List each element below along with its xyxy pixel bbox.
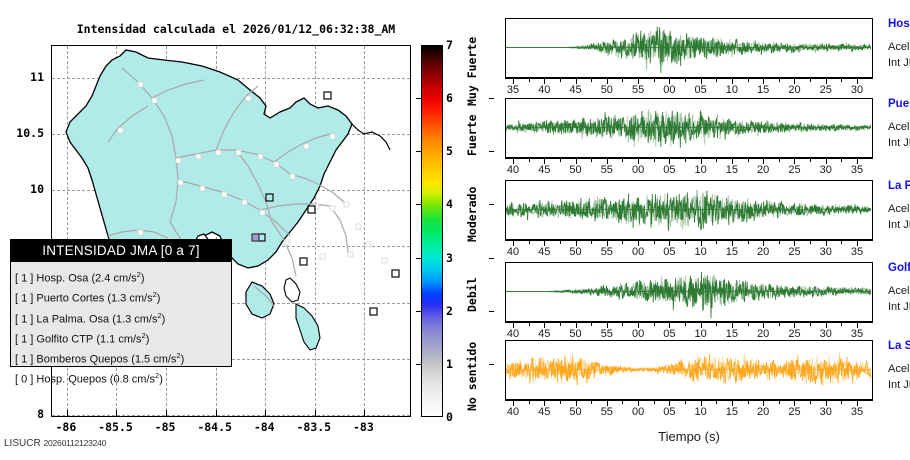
map-xtick-label: -86	[38, 420, 94, 434]
map-xtick-mark	[265, 410, 266, 417]
axis-tick-label: 15	[748, 84, 778, 96]
colorbar-tick-mark	[416, 98, 421, 99]
axis-minor-tick-mark	[779, 158, 780, 162]
map-gridline-horizontal	[52, 415, 410, 416]
station-jma-intensity: Int JMA: 1	[888, 219, 910, 231]
colorbar-category-label: Moderado	[465, 187, 479, 242]
colorbar-tick-label: 4	[446, 197, 453, 211]
axis-tick-label: 05	[654, 406, 684, 418]
axis-tick-label: 20	[748, 164, 778, 176]
axis-tick-label: 55	[623, 84, 653, 96]
axis-minor-tick-mark	[591, 158, 592, 162]
axis-minor-tick-mark	[591, 78, 592, 82]
colorbar-category-label: Debil	[465, 277, 479, 312]
station-jma-intensity: Int JMA: 1	[888, 301, 910, 313]
seismogram-trace-box[interactable]	[505, 18, 873, 78]
axis-tick-label: 25	[779, 164, 809, 176]
seismogram-station-info: Puerto CortesAcel. Max. 0.7Int JMA: 1	[888, 98, 910, 149]
station-name[interactable]: Puerto Cortes	[888, 98, 910, 110]
axis-tick-label: 45	[529, 406, 559, 418]
axis-minor-tick-mark	[716, 322, 717, 326]
axis-tick-label: 50	[561, 406, 591, 418]
axis-minor-tick-mark	[622, 322, 623, 326]
axis-tick-label: 10	[686, 164, 716, 176]
seismogram-waveform	[506, 19, 871, 76]
colorbar-tick-label: 3	[446, 251, 453, 265]
legend-intensity: [ 1 ]	[15, 273, 33, 285]
axis-minor-tick-mark	[591, 322, 592, 326]
axis-tick-label: 40	[498, 246, 528, 258]
seismogram-trace-box[interactable]	[505, 180, 873, 240]
station-max-accel: Acel. Max. 0.7	[888, 285, 910, 297]
legend-accel: (1.3 cm/s	[112, 313, 157, 325]
axis-tick-label: 20	[748, 246, 778, 258]
colorbar-category-label: No sentido	[465, 342, 479, 411]
intensity-legend: INTENSIDAD JMA [0 a 7] [ 1 ] Hosp. Osa (…	[10, 239, 232, 367]
legend-paren: )	[141, 273, 145, 285]
map-xtick-mark	[364, 410, 365, 417]
station-jma-intensity: Int JMA: 1	[888, 57, 910, 69]
page-title: Intensidad calculada el 2026/01/12_06:32…	[66, 22, 406, 36]
axis-tick-label: 45	[529, 246, 559, 258]
water-golfo-dulce	[284, 278, 300, 302]
map-xtick-mark	[67, 410, 68, 417]
axis-minor-tick-mark	[810, 400, 811, 404]
colorbar-tick-mark	[416, 364, 421, 365]
seismogram-trace-box[interactable]	[505, 340, 873, 400]
axis-minor-tick-mark	[560, 158, 561, 162]
axis-minor-tick-mark	[810, 158, 811, 162]
axis-minor-tick-mark	[779, 78, 780, 82]
axis-tick-label: 25	[779, 328, 809, 340]
axis-minor-tick-mark	[716, 78, 717, 82]
axis-tick-label: 30	[811, 246, 841, 258]
legend-intensity: [ 1 ]	[15, 333, 33, 345]
coastline-caribbean	[352, 124, 390, 150]
axis-minor-tick-mark	[841, 322, 842, 326]
map-ytick-label: 10	[4, 182, 44, 196]
seismogram-station-info: Golfito CTPAcel. Max. 0.7Int JMA: 1	[888, 262, 910, 313]
legend-accel: (1.3 cm/s	[107, 293, 152, 305]
axis-minor-tick-mark	[841, 158, 842, 162]
colorbar-tick-label: 1	[446, 357, 453, 371]
axis-minor-tick-mark	[529, 400, 530, 404]
seismogram-time-axis: 404550550005101520253035	[505, 158, 873, 178]
station-jma-intensity: Int JMA: 0	[888, 379, 910, 391]
axis-minor-tick-mark	[622, 158, 623, 162]
map-ytick-mark	[51, 415, 52, 416]
axis-tick-label: 35	[842, 406, 872, 418]
axis-minor-tick-mark	[560, 322, 561, 326]
axis-tick-label: 15	[717, 246, 747, 258]
legend-paren: )	[181, 354, 185, 366]
axis-minor-tick-mark	[748, 78, 749, 82]
map-ytick-mark	[51, 134, 52, 135]
legend-row: [ 1 ] La Palma. Osa (1.3 cm/s2)	[15, 308, 231, 328]
legend-title: INTENSIDAD JMA [0 a 7]	[11, 240, 231, 262]
map-xtick-mark	[116, 410, 117, 417]
axis-minor-tick-mark	[841, 240, 842, 244]
axis-tick-label: 30	[842, 84, 872, 96]
axis-minor-tick-mark	[841, 400, 842, 404]
axis-tick-label: 35	[498, 84, 528, 96]
axis-tick-label: 10	[686, 406, 716, 418]
legend-row: [ 0 ] Hosp. Quepos (0.8 cm/s2)	[15, 368, 231, 388]
axis-minor-tick-mark	[654, 322, 655, 326]
axis-tick-label: 45	[561, 84, 591, 96]
map-xtick-label: -83.5	[286, 420, 342, 434]
footer-lab: LISUCR	[4, 438, 41, 449]
seismogram-waveform	[506, 263, 871, 320]
colorbar-tick-label: 6	[446, 91, 453, 105]
axis-tick-label: 00	[623, 406, 653, 418]
station-name[interactable]: Hosp. Osa	[888, 18, 910, 30]
axis-minor-tick-mark	[779, 322, 780, 326]
map-ytick-mark	[51, 190, 52, 191]
colorbar-tick-label: 7	[446, 38, 453, 52]
legend-station: Hosp. Osa	[36, 273, 88, 285]
map-xtick-label: -84	[236, 420, 292, 434]
legend-row: [ 1 ] Hosp. Osa (2.4 cm/s2)	[15, 267, 231, 287]
axis-minor-tick-mark	[810, 78, 811, 82]
station-max-accel: Acel. Max. 0.7	[888, 121, 910, 133]
axis-tick-label: 35	[842, 246, 872, 258]
axis-minor-tick-mark	[622, 240, 623, 244]
legend-intensity: [ 1 ]	[15, 313, 33, 325]
axis-minor-tick-mark	[654, 240, 655, 244]
seismogram-trace-secondary	[506, 29, 871, 71]
legend-intensity: [ 1 ]	[15, 354, 33, 366]
axis-minor-tick-mark	[591, 400, 592, 404]
seismogram-waveform	[506, 99, 871, 156]
axis-tick-label: 25	[779, 406, 809, 418]
axis-tick-label: 20	[779, 84, 809, 96]
axis-tick-label: 00	[654, 84, 684, 96]
colorbar-tick-label: 2	[446, 304, 453, 318]
map-xtick-label: -85	[137, 420, 193, 434]
axis-tick-label: 10	[686, 246, 716, 258]
axis-tick-label: 05	[654, 328, 684, 340]
map-panel: Intensidad calculada el 2026/01/12_06:32…	[0, 0, 492, 460]
axis-minor-tick-mark	[748, 240, 749, 244]
axis-tick-label: 15	[717, 406, 747, 418]
axis-minor-tick-mark	[560, 400, 561, 404]
landmass-southern-tail	[296, 304, 320, 350]
axis-minor-tick-mark	[748, 158, 749, 162]
axis-minor-tick-mark	[560, 240, 561, 244]
legend-row: [ 1 ] Bomberos Quepos (1.5 cm/s2)	[15, 348, 231, 368]
axis-minor-tick-mark	[685, 400, 686, 404]
axis-minor-tick-mark	[716, 400, 717, 404]
map-ytick-label: 11	[4, 70, 44, 84]
axis-minor-tick-mark	[529, 78, 530, 82]
map-xtick-mark	[216, 410, 217, 417]
axis-tick-label: 35	[842, 164, 872, 176]
axis-minor-tick-mark	[529, 158, 530, 162]
axis-minor-tick-mark	[654, 400, 655, 404]
footer-code: 20260112123240	[43, 438, 106, 448]
axis-tick-label: 20	[748, 328, 778, 340]
station-name[interactable]: La Palma, Osa	[888, 180, 910, 192]
footer: LISUCR 20260112123240	[4, 438, 106, 449]
seismogram-waveform	[506, 181, 871, 238]
axis-tick-label: 45	[529, 328, 559, 340]
axis-tick-label: 30	[811, 328, 841, 340]
colorbar-category-label: Muy Fuerte	[465, 36, 479, 105]
axis-tick-label: 25	[811, 84, 841, 96]
map-xtick-label: -83	[335, 420, 391, 434]
legend-accel: (1.1 cm/s	[96, 333, 141, 345]
axis-minor-tick-mark	[560, 78, 561, 82]
colorbar-tick-label: 0	[446, 410, 453, 424]
seismogram-trace-box[interactable]	[505, 262, 873, 322]
colorbar-tick-label: 5	[446, 144, 453, 158]
station-max-accel: Acel. Max. 0.7	[888, 203, 910, 215]
axis-minor-tick-mark	[529, 322, 530, 326]
legend-station: Puerto Cortes	[36, 293, 104, 305]
axis-tick-label: 55	[592, 164, 622, 176]
legend-accel: (0.8 cm/s	[110, 374, 155, 386]
legend-accel: (1.5 cm/s	[131, 354, 176, 366]
legend-paren: )	[162, 313, 166, 325]
axis-tick-label: 20	[748, 406, 778, 418]
seismogram-station-info: La Palma, OsaAcel. Max. 0.7Int JMA: 1	[888, 180, 910, 231]
seismogram-waveform	[506, 341, 871, 398]
axis-tick-label: 05	[686, 84, 716, 96]
map-xtick-mark	[166, 410, 167, 417]
axis-tick-label: 05	[654, 246, 684, 258]
colorbar-tick-mark	[416, 151, 421, 152]
station-max-accel: Acel. Max. 0.0	[888, 363, 910, 375]
colorbar-gradient	[421, 45, 443, 417]
axis-minor-tick-mark	[591, 240, 592, 244]
axis-tick-label: 50	[561, 246, 591, 258]
axis-minor-tick-mark	[841, 78, 842, 82]
seismogram-station-info: La SabanaAcel. Max. 0.0Int JMA: 0	[888, 340, 910, 391]
axis-minor-tick-mark	[529, 240, 530, 244]
seismogram-time-axis: 354045505500051015202530	[505, 78, 873, 98]
legend-paren: )	[146, 333, 150, 345]
legend-station: Hosp. Quepos	[36, 374, 106, 386]
map-xtick-label: -84.5	[187, 420, 243, 434]
seismogram-trace-box[interactable]	[505, 98, 873, 158]
legend-station: Golfito CTP	[36, 333, 93, 345]
axis-minor-tick-mark	[748, 400, 749, 404]
map-ytick-label: 10.5	[4, 126, 44, 140]
legend-station: La Palma. Osa	[36, 313, 109, 325]
axis-tick-label: 40	[498, 164, 528, 176]
legend-station: Bomberos Quepos	[36, 354, 128, 366]
seismogram-panel: 354045505500051015202530Hosp. OsaAcel. M…	[492, 0, 910, 460]
axis-tick-label: 40	[498, 406, 528, 418]
axis-minor-tick-mark	[810, 240, 811, 244]
legend-row: [ 1 ] Golfito CTP (1.1 cm/s2)	[15, 328, 231, 348]
axis-tick-label: 55	[592, 406, 622, 418]
axis-minor-tick-mark	[654, 78, 655, 82]
legend-rows: [ 1 ] Hosp. Osa (2.4 cm/s2)[ 1 ] Puerto …	[11, 262, 231, 389]
axis-tick-label: 10	[717, 84, 747, 96]
colorbar-category-label: Fuerte	[465, 114, 479, 156]
legend-intensity: [ 1 ]	[15, 293, 33, 305]
axis-tick-label: 35	[842, 328, 872, 340]
seismogram-time-axis: 404550550005101520253035	[505, 322, 873, 342]
epicenter-marker	[252, 234, 259, 241]
legend-row: [ 1 ] Puerto Cortes (1.3 cm/s2)	[15, 287, 231, 307]
axis-tick-label: 50	[592, 84, 622, 96]
axis-minor-tick-mark	[622, 78, 623, 82]
station-name[interactable]: La Sabana	[888, 340, 910, 352]
station-name[interactable]: Golfito CTP	[888, 262, 910, 274]
station-jma-intensity: Int JMA: 1	[888, 137, 910, 149]
axis-minor-tick-mark	[685, 158, 686, 162]
axis-tick-label: 55	[592, 328, 622, 340]
colorbar-tick-mark	[416, 311, 421, 312]
seismogram-trace-primary	[506, 110, 871, 147]
axis-minor-tick-mark	[685, 322, 686, 326]
axis-tick-label: 30	[811, 164, 841, 176]
axis-minor-tick-mark	[810, 322, 811, 326]
seismogram-station-info: Hosp. OsaAcel. Max. 0.7Int JMA: 1	[888, 18, 910, 69]
axis-tick-label: 05	[654, 164, 684, 176]
axis-minor-tick-mark	[685, 240, 686, 244]
axis-minor-tick-mark	[748, 322, 749, 326]
axis-minor-tick-mark	[654, 158, 655, 162]
axis-minor-tick-mark	[779, 240, 780, 244]
legend-intensity: [ 0 ]	[15, 374, 33, 386]
axis-tick-label: 00	[623, 246, 653, 258]
axis-tick-label: 30	[811, 406, 841, 418]
axis-minor-tick-mark	[716, 240, 717, 244]
axis-tick-label: 10	[686, 328, 716, 340]
axis-tick-label: 50	[561, 328, 591, 340]
axis-tick-label: 45	[529, 164, 559, 176]
axis-tick-label: 40	[529, 84, 559, 96]
axis-tick-label: 55	[592, 246, 622, 258]
axis-minor-tick-mark	[716, 158, 717, 162]
seismogram-xaxis-title: Tiempo (s)	[505, 429, 873, 444]
axis-minor-tick-mark	[622, 400, 623, 404]
colorbar-tick-mark	[416, 258, 421, 259]
map-xtick-mark	[315, 410, 316, 417]
axis-tick-label: 25	[779, 246, 809, 258]
map-xtick-label: -85.5	[87, 420, 143, 434]
legend-paren: )	[159, 374, 163, 386]
colorbar-tick-mark	[416, 204, 421, 205]
intensity-colorbar: 76543210Muy FuerteFuerteModeradoDebilNo …	[421, 45, 489, 417]
axis-tick-label: 15	[717, 328, 747, 340]
axis-tick-label: 40	[498, 328, 528, 340]
axis-tick-label: 00	[623, 164, 653, 176]
map-ytick-mark	[51, 78, 52, 79]
station-max-accel: Acel. Max. 0.7	[888, 41, 910, 53]
legend-accel: (2.4 cm/s	[91, 273, 136, 285]
legend-paren: )	[157, 293, 161, 305]
map-ytick-label: 8	[4, 407, 44, 421]
axis-tick-label: 00	[623, 328, 653, 340]
axis-tick-label: 15	[717, 164, 747, 176]
axis-minor-tick-mark	[685, 78, 686, 82]
axis-tick-label: 50	[561, 164, 591, 176]
axis-minor-tick-mark	[779, 400, 780, 404]
seismogram-time-axis: 404550550005101520253035	[505, 240, 873, 260]
seismogram-time-axis: 404550550005101520253035	[505, 400, 873, 420]
